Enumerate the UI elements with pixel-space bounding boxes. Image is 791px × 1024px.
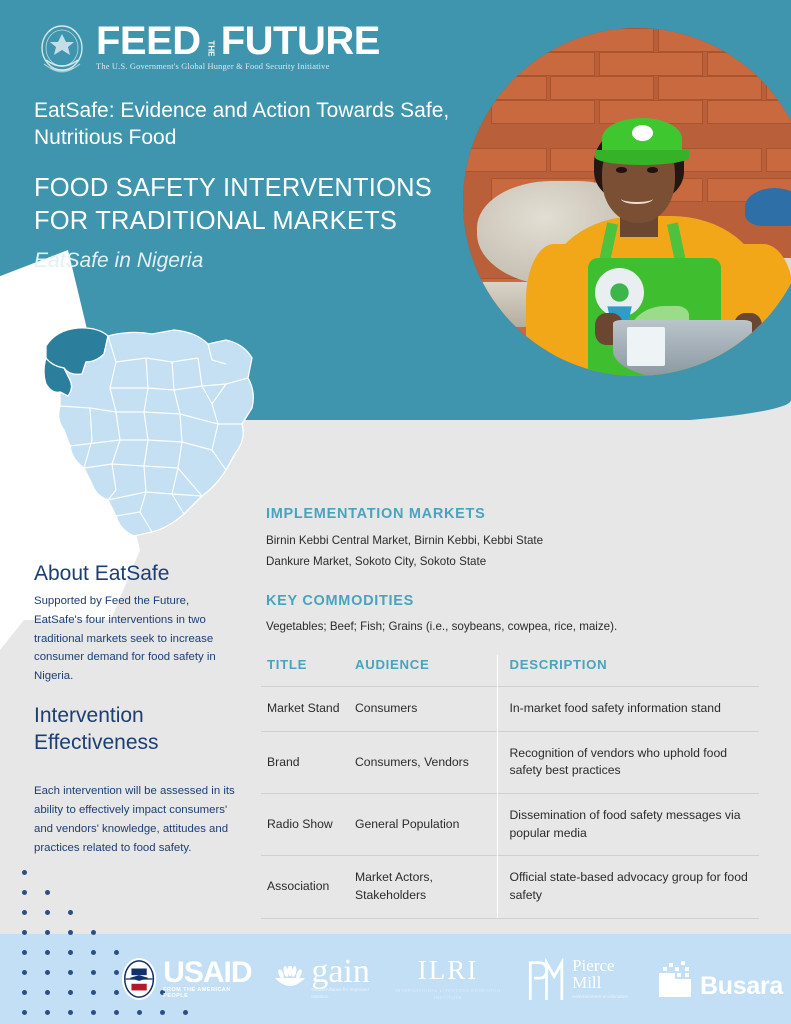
page-title: FOOD SAFETY INTERVENTIONS FOR TRADITIONA…: [34, 172, 474, 238]
column-header-audience: AUDIENCE: [349, 655, 497, 687]
busara-mark-icon: [657, 959, 695, 999]
ilri-logo: ILRI INTERNATIONAL LIVESTOCK RESEARCH IN…: [390, 957, 506, 1001]
ilri-wordmark: ILRI: [390, 957, 506, 984]
intervention-effectiveness-body: Each intervention will be assessed in it…: [34, 782, 242, 859]
usaid-logo: USAID FROM THE AMERICAN PEOPLE: [120, 956, 253, 1002]
cell-description: Official state-based advocacy group for …: [497, 856, 759, 918]
column-header-description: DESCRIPTION: [497, 655, 759, 687]
busara-wordmark: Busara: [700, 974, 783, 999]
logo-wordmark: FEED THE FUTURE: [96, 22, 380, 60]
gain-tagline: Global Alliance for Improved Nutrition: [311, 987, 369, 999]
gain-bowl-icon: [273, 966, 307, 992]
grid-dot: [22, 910, 27, 915]
header-program-line: EatSafe in Nigeria: [34, 249, 203, 273]
logo-feed: FEED: [96, 22, 201, 60]
busara-logo: Busara: [657, 959, 783, 999]
photo-cap-badge-icon: [632, 125, 653, 141]
grid-dot: [22, 890, 27, 895]
table-row: Association Market Actors, Stakeholders …: [261, 856, 759, 918]
nigeria-map: [12, 300, 280, 550]
grid-dot: [68, 910, 73, 915]
implementation-market-2: Dankure Market, Sokoto City, Sokoto Stat…: [266, 551, 686, 572]
implementation-markets-list: Birnin Kebbi Central Market, Birnin Kebb…: [266, 530, 686, 573]
table-row: Market Stand Consumers In-market food sa…: [261, 687, 759, 732]
partner-logos: USAID FROM THE AMERICAN PEOPLE gain Glob…: [0, 934, 791, 1024]
cell-audience: Consumers, Vendors: [349, 731, 497, 793]
gain-logo: gain Global Alliance for Improved Nutrit…: [273, 958, 370, 1000]
pierce-mill-wordmark: Pierce Mill: [572, 957, 637, 992]
cell-audience: General Population: [349, 794, 497, 856]
ilri-tagline: INTERNATIONAL LIVESTOCK RESEARCH INSTITU…: [390, 988, 506, 1001]
table-row: Radio Show General Population Disseminat…: [261, 794, 759, 856]
usaid-seal-icon: [120, 956, 158, 1002]
poster-page: FEED THE FUTURE The U.S. Government's Gl…: [0, 0, 791, 1024]
implementation-market-1: Birnin Kebbi Central Market, Birnin Kebb…: [266, 530, 686, 551]
cell-description: Dissemination of food safety messages vi…: [497, 794, 759, 856]
cell-description: In-market food safety information stand: [497, 687, 759, 732]
feed-the-future-logo: FEED THE FUTURE The U.S. Government's Gl…: [36, 22, 380, 78]
pierce-mill-monogram-icon: [526, 954, 567, 1004]
cell-title: Association: [261, 856, 349, 918]
logo-future: FUTURE: [221, 22, 380, 60]
cell-description: Recognition of vendors who uphold food s…: [497, 731, 759, 793]
pierce-mill-tagline: entertainment & education: [572, 994, 637, 1001]
photo-eye-left: [616, 167, 626, 173]
cell-title: Market Stand: [261, 687, 349, 732]
table-row: Brand Consumers, Vendors Recognition of …: [261, 731, 759, 793]
header-subtitle: EatSafe: Evidence and Action Towards Saf…: [34, 98, 464, 152]
about-eatsafe-body: Supported by Feed the Future, EatSafe's …: [34, 592, 232, 686]
column-header-title: TITLE: [261, 655, 349, 687]
pierce-mill-logo: Pierce Mill entertainment & education: [526, 954, 637, 1004]
grid-dot: [22, 870, 27, 875]
key-commodities-body: Vegetables; Beef; Fish; Grains (i.e., so…: [266, 616, 686, 637]
nigeria-map-icon: [12, 300, 280, 550]
about-eatsafe-heading: About EatSafe: [34, 562, 169, 586]
implementation-markets-heading: IMPLEMENTATION MARKETS: [266, 506, 485, 522]
usaid-wordmark: USAID: [163, 959, 253, 986]
photo-bowl-label: [627, 327, 665, 365]
intervention-effectiveness-heading: Intervention Effectiveness: [34, 703, 234, 757]
grid-dot: [45, 910, 50, 915]
cell-audience: Consumers: [349, 687, 497, 732]
table-header-row: TITLE AUDIENCE DESCRIPTION: [261, 655, 759, 687]
cell-title: Brand: [261, 731, 349, 793]
photo-smile: [621, 193, 652, 203]
key-commodities-heading: KEY COMMODITIES: [266, 593, 414, 609]
logo-tagline: The U.S. Government's Global Hunger & Fo…: [96, 62, 380, 71]
photo-eye-right: [647, 167, 657, 173]
logo-the: THE: [203, 43, 219, 54]
cell-title: Radio Show: [261, 794, 349, 856]
photo-blue-bowl: [745, 188, 791, 226]
gain-wordmark: gain: [311, 958, 370, 985]
hero-photo-vendor-woman: [463, 28, 791, 376]
cell-audience: Market Actors, Stakeholders: [349, 856, 497, 918]
grid-dot: [45, 890, 50, 895]
usda-seal-icon: [36, 22, 88, 78]
interventions-table: TITLE AUDIENCE DESCRIPTION Market Stand …: [261, 655, 759, 919]
